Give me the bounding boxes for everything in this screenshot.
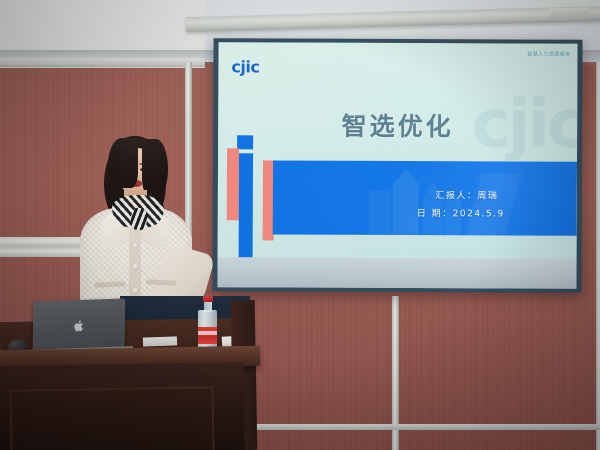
water-bottle-cap	[203, 296, 213, 302]
water-bottle-label	[198, 327, 217, 344]
jacket-button-1	[133, 243, 138, 248]
laptop	[33, 298, 126, 353]
water-bottle-label-stripe	[198, 331, 217, 335]
presenter-hair-front-left	[108, 138, 138, 188]
paper-sheet-left	[143, 336, 177, 346]
jacket-button-3	[133, 288, 138, 293]
presenter-hair-front-right	[142, 139, 168, 195]
jacket-button-2	[133, 264, 138, 269]
screenshot-root: cjic cjic 智慧人力资源服务 智选优化 汇报人：周瑞 日 期：2024.…	[0, 0, 600, 450]
apple-logo-icon	[73, 319, 84, 332]
podium-front-panel	[9, 386, 214, 450]
